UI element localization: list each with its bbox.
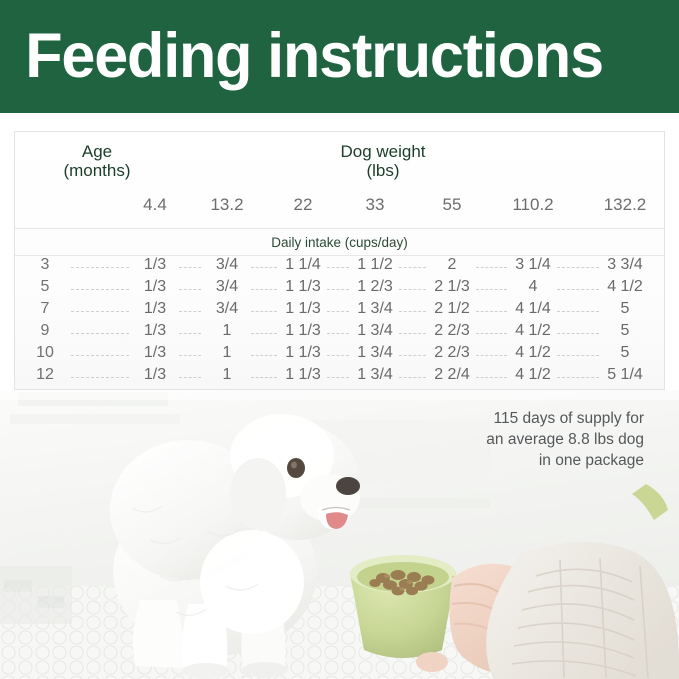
- weight-column-110.2: 110.2: [493, 195, 573, 215]
- intake-cell: 5: [585, 300, 665, 318]
- age-cell: 7: [25, 300, 65, 318]
- intake-cell: 1 3/4: [335, 322, 415, 340]
- intake-cell: 2 2/4: [412, 366, 492, 384]
- intake-cell: 1 2/3: [335, 278, 415, 296]
- dog-weight-column-header: Dog weight (lbs): [283, 142, 483, 180]
- weight-header-unit: (lbs): [283, 161, 483, 180]
- intake-cell: 5 1/4: [585, 366, 665, 384]
- weight-column-55: 55: [412, 195, 492, 215]
- intake-cell: 3/4: [187, 256, 267, 274]
- intake-cell: 4 1/2: [493, 322, 573, 340]
- intake-cell: 4 1/2: [585, 278, 665, 296]
- intake-cell: 1/3: [115, 278, 195, 296]
- intake-cell: 4 1/4: [493, 300, 573, 318]
- intake-cell: 1/3: [115, 344, 195, 362]
- intake-cell: 1 1/3: [263, 366, 343, 384]
- supply-note-line-2: an average 8.8 lbs dog: [486, 429, 644, 450]
- age-cell: 10: [25, 344, 65, 362]
- intake-cell: 2: [412, 256, 492, 274]
- weight-column-132.2: 132.2: [585, 195, 665, 215]
- intake-cell: 1/3: [115, 322, 195, 340]
- table-row: 31/33/41 1/41 1/223 1/43 3/4: [15, 256, 664, 278]
- intake-cell: 1 3/4: [335, 366, 415, 384]
- intake-cell: 1 1/3: [263, 344, 343, 362]
- table-row: 71/33/41 1/31 3/42 1/24 1/45: [15, 300, 664, 322]
- intake-cell: 2 2/3: [412, 322, 492, 340]
- supply-note-line-1: 115 days of supply for: [486, 408, 644, 429]
- intake-cell: 1: [187, 366, 267, 384]
- weight-column-13.2: 13.2: [187, 195, 267, 215]
- intake-cell: 2 1/2: [412, 300, 492, 318]
- intake-cell: 1: [187, 344, 267, 362]
- intake-cell: 5: [585, 322, 665, 340]
- age-cell: 3: [25, 256, 65, 274]
- intake-cell: 1 1/4: [263, 256, 343, 274]
- supply-note-line-3: in one package: [486, 450, 644, 471]
- age-cell: 5: [25, 278, 65, 296]
- weight-values-row: 4.413.2223355110.2132.2: [15, 195, 664, 228]
- intake-cell: 2 2/3: [412, 344, 492, 362]
- intake-cell: 1 3/4: [335, 300, 415, 318]
- weight-column-22: 22: [263, 195, 343, 215]
- weight-column-33: 33: [335, 195, 415, 215]
- intake-cell: 1/3: [115, 366, 195, 384]
- intake-cell: 1 1/3: [263, 278, 343, 296]
- weight-header-label: Dog weight: [283, 142, 483, 161]
- age-column-header: Age (months): [37, 142, 157, 180]
- intake-cell: 5: [585, 344, 665, 362]
- weight-column-4.4: 4.4: [115, 195, 195, 215]
- intake-cell: 1: [187, 322, 267, 340]
- age-cell: 9: [25, 322, 65, 340]
- intake-cell: 4 1/2: [493, 344, 573, 362]
- intake-cell: 1 1/3: [263, 322, 343, 340]
- intake-cell: 1/3: [115, 256, 195, 274]
- supply-note: 115 days of supply for an average 8.8 lb…: [486, 408, 644, 471]
- intake-cell: 3 1/4: [493, 256, 573, 274]
- intake-cell: 1 1/3: [263, 300, 343, 318]
- intake-cell: 3/4: [187, 300, 267, 318]
- age-header-label: Age: [37, 142, 157, 161]
- intake-cell: 1 3/4: [335, 344, 415, 362]
- intake-cell: 3 3/4: [585, 256, 665, 274]
- intake-cell: 3/4: [187, 278, 267, 296]
- age-header-unit: (months): [37, 161, 157, 180]
- intake-cell: 2 1/3: [412, 278, 492, 296]
- intake-cell: 1 1/2: [335, 256, 415, 274]
- table-body: 31/33/41 1/41 1/223 1/43 3/451/33/41 1/3…: [15, 256, 664, 388]
- daily-intake-subheader: Daily intake (cups/day): [15, 229, 664, 255]
- table-row: 91/311 1/31 3/42 2/34 1/25: [15, 322, 664, 344]
- age-cell: 12: [25, 366, 65, 384]
- intake-cell: 1/3: [115, 300, 195, 318]
- feeding-table: Age (months) Dog weight (lbs) 4.413.2223…: [14, 131, 665, 390]
- table-row: 51/33/41 1/31 2/32 1/344 1/2: [15, 278, 664, 300]
- table-header-row: Age (months) Dog weight (lbs): [15, 132, 664, 195]
- intake-cell: 4: [493, 278, 573, 296]
- table-row: 101/311 1/31 3/42 2/34 1/25: [15, 344, 664, 366]
- table-row: 121/311 1/31 3/42 2/44 1/25 1/4: [15, 366, 664, 388]
- page-title: Feeding instructions: [0, 25, 603, 88]
- intake-cell: 4 1/2: [493, 366, 573, 384]
- header-banner: Feeding instructions: [0, 0, 679, 113]
